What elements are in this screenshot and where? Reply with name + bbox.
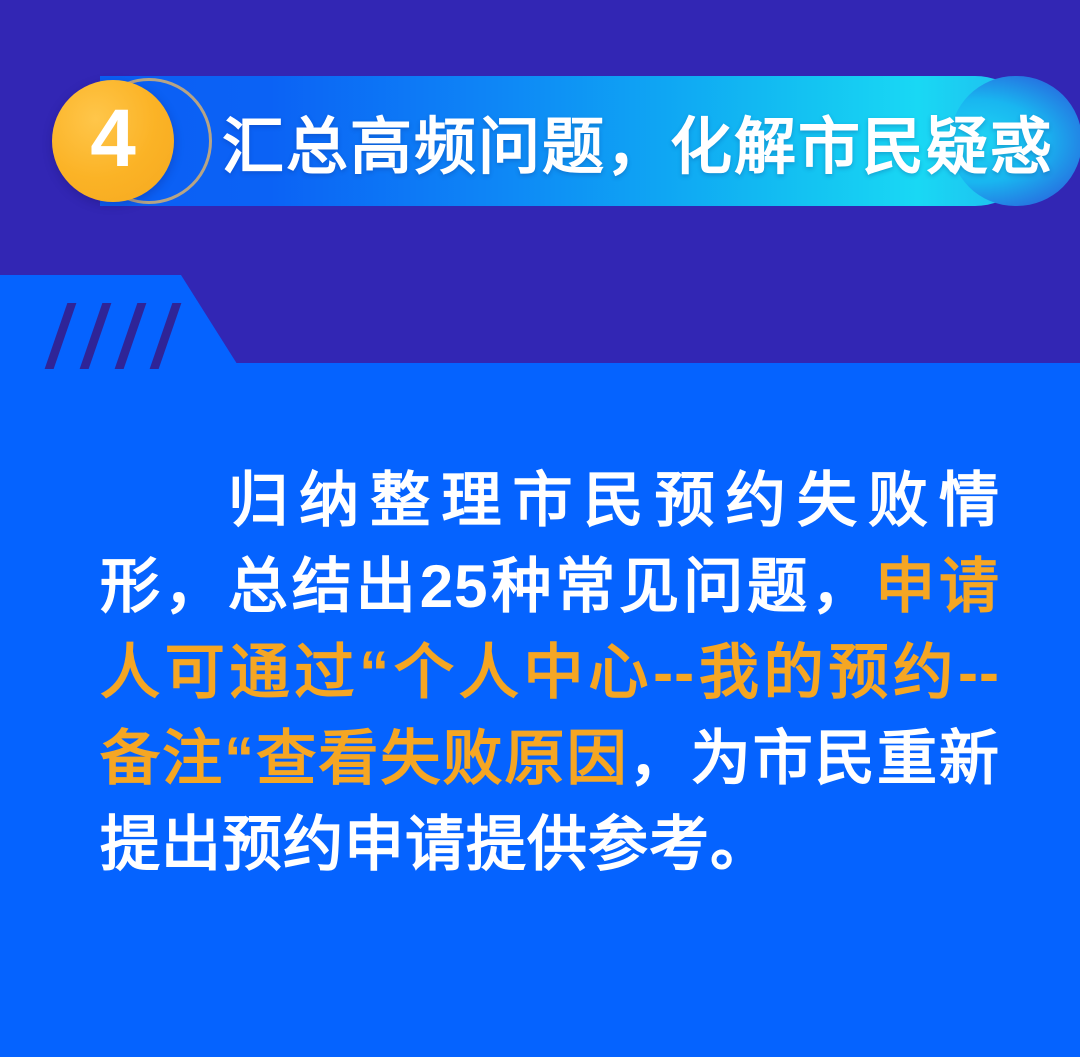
diagonal-slash-decoration	[48, 303, 188, 369]
diagonal-slash-icon	[80, 303, 112, 369]
infographic-poster: 4 汇总高频问题，化解市民疑惑 归纳整理市民预约失败情形，总结出25种常见问题，…	[0, 0, 1080, 1057]
paragraph-plain-tail2: 约申请提供参考。	[283, 811, 771, 878]
diagonal-slash-icon	[115, 303, 147, 369]
section-title: 汇总高频问题，化解市民疑惑	[222, 76, 1054, 206]
section-number-badge: 4	[52, 80, 174, 202]
diagonal-slash-icon	[45, 303, 77, 369]
paragraph-plain-count-phrase: 总结出25种常见问题，	[228, 553, 875, 620]
section-number-label: 4	[90, 98, 136, 180]
paragraph-highlight-action: 查看失败原因	[255, 725, 629, 792]
diagonal-slash-icon	[150, 303, 182, 369]
body-paragraph: 归纳整理市民预约失败情形，总结出25种常见问题，申请人可通过“个人中心--我的预…	[100, 458, 1000, 888]
